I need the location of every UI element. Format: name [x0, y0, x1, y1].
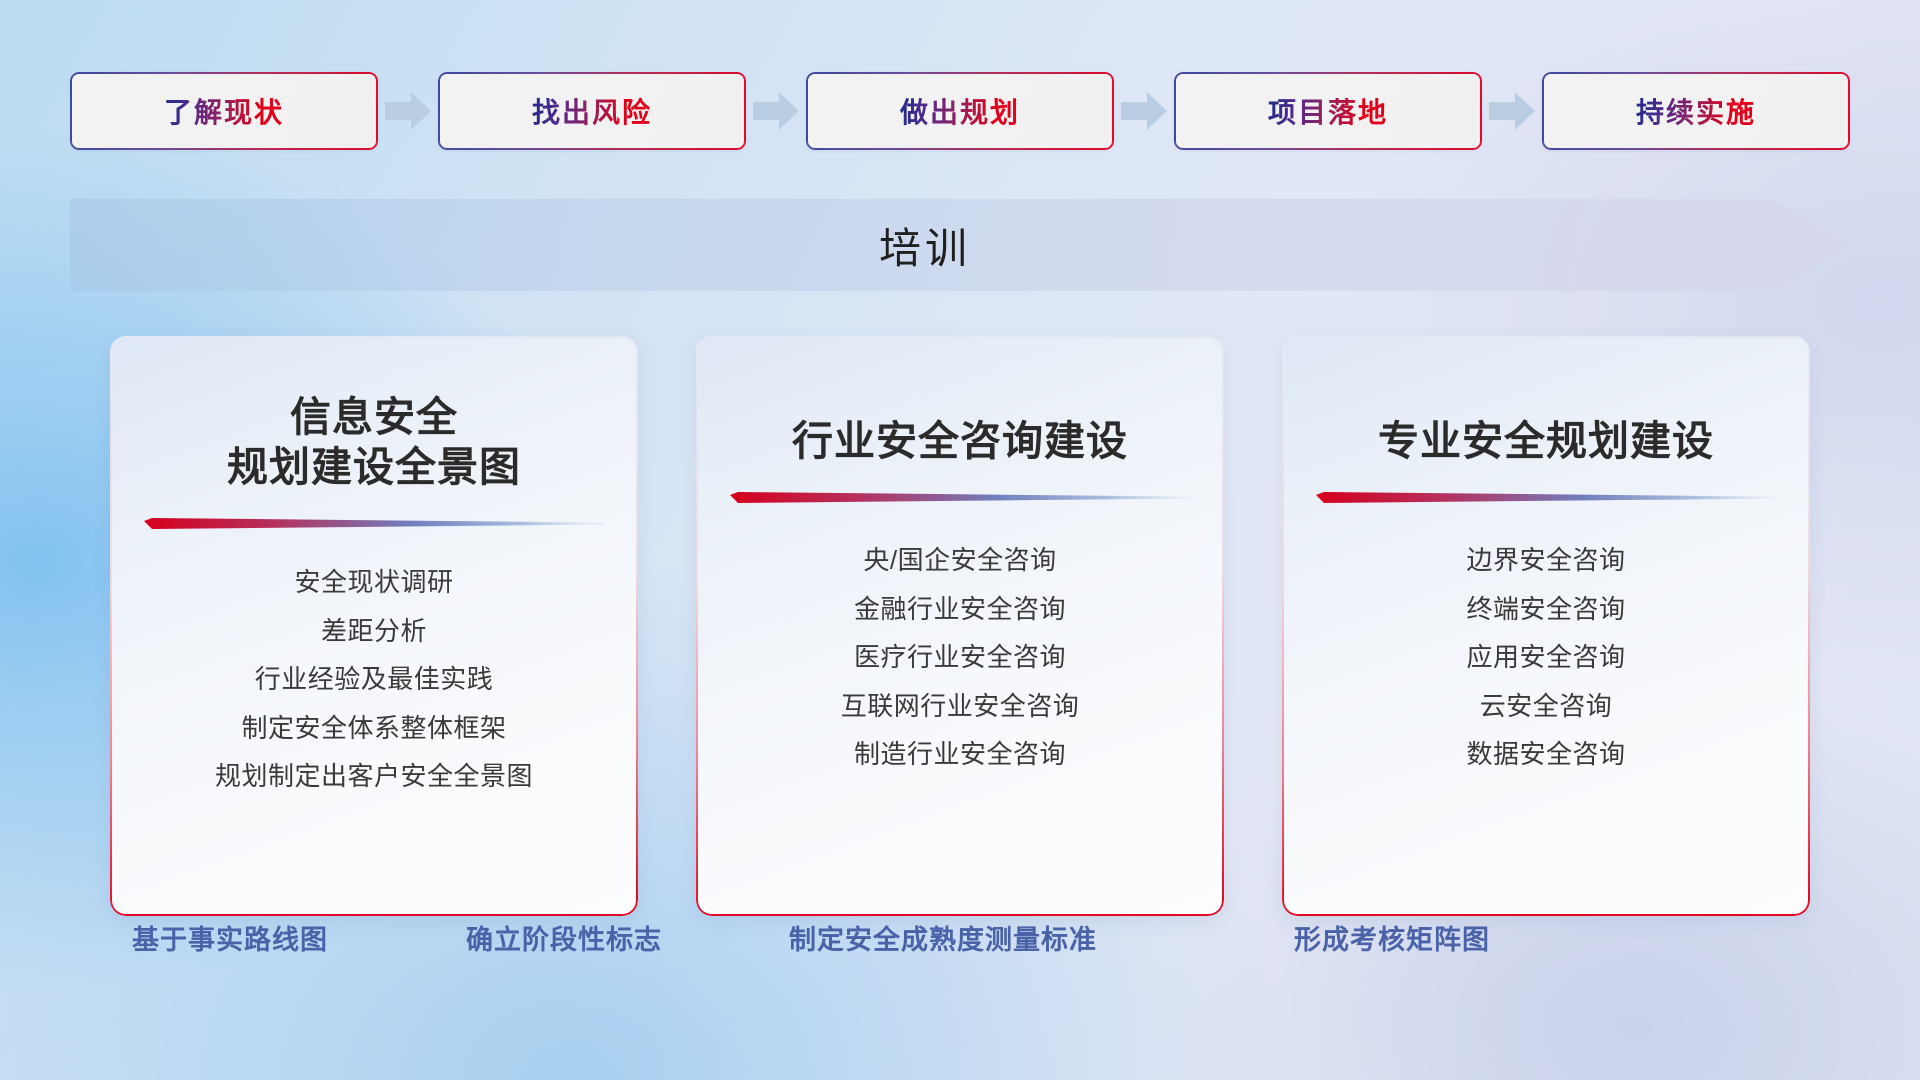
list-item: 差距分析 [144, 607, 604, 656]
list-item: 云安全咨询 [1316, 682, 1776, 731]
list-item: 安全现状调研 [144, 558, 604, 607]
card-title: 专业安全规划建设 [1378, 416, 1714, 466]
card-title: 信息安全 规划建设全景图 [227, 392, 521, 492]
card-information-security-blueprint[interactable]: 信息安全 规划建设全景图 安全现状调研 差距分析 行业经验及最佳实践 [110, 336, 638, 916]
step-item-3[interactable]: 做出规划 [806, 72, 1114, 150]
step-label: 项目落地 [1268, 91, 1388, 131]
list-item: 行业经验及最佳实践 [144, 655, 604, 704]
footer-label: 制定安全成熟度测量标准 [789, 918, 1097, 957]
card-divider [144, 518, 604, 532]
card-list: 边界安全咨询 终端安全咨询 应用安全咨询 云安全咨询 数据安全咨询 [1316, 536, 1776, 779]
step-label: 找出风险 [532, 91, 652, 131]
step-label: 做出规划 [900, 91, 1020, 131]
card-professional-security-planning[interactable]: 专业安全规划建设 边界安全咨询 终端安全咨询 应用安全咨询 云安全 [1282, 336, 1810, 916]
card-divider [730, 492, 1190, 506]
list-item: 互联网行业安全咨询 [730, 682, 1190, 731]
step-label: 持续实施 [1636, 91, 1756, 131]
step-item-1[interactable]: 了解现状 [70, 72, 378, 150]
list-item: 医疗行业安全咨询 [730, 633, 1190, 682]
list-item: 央/国企安全咨询 [730, 536, 1190, 585]
step-label: 了解现状 [164, 91, 284, 131]
footer-label: 形成考核矩阵图 [1294, 918, 1490, 957]
footer-labels-row: 基于事实路线图 确立阶段性标志 制定安全成熟度测量标准 形成考核矩阵图 [0, 918, 1920, 978]
card-list: 央/国企安全咨询 金融行业安全咨询 医疗行业安全咨询 互联网行业安全咨询 制造行… [730, 536, 1190, 779]
step-arrow-1 [378, 72, 438, 150]
list-item: 终端安全咨询 [1316, 585, 1776, 634]
card-list: 安全现状调研 差距分析 行业经验及最佳实践 制定安全体系整体框架 规划制定出客户… [144, 558, 604, 801]
list-item: 应用安全咨询 [1316, 633, 1776, 682]
step-item-2[interactable]: 找出风险 [438, 72, 746, 150]
card-industry-security-consulting[interactable]: 行业安全咨询建设 央/国企安全咨询 金融行业安全咨询 医疗行业安全咨询 [696, 336, 1224, 916]
list-item: 制造行业安全咨询 [730, 730, 1190, 779]
step-arrow-2 [746, 72, 806, 150]
process-steps-row: 了解现状 找出风险 做出规划 项目落地 持续实施 [70, 72, 1850, 150]
banner-title: 培训 [70, 199, 1850, 291]
list-item: 金融行业安全咨询 [730, 585, 1190, 634]
footer-label: 确立阶段性标志 [466, 918, 662, 957]
list-item: 数据安全咨询 [1316, 730, 1776, 779]
card-divider [1316, 492, 1776, 506]
list-item: 边界安全咨询 [1316, 536, 1776, 585]
card-title: 行业安全咨询建设 [792, 416, 1128, 466]
cards-row: 信息安全 规划建设全景图 安全现状调研 差距分析 行业经验及最佳实践 [110, 336, 1810, 916]
step-arrow-3 [1114, 72, 1174, 150]
list-item: 制定安全体系整体框架 [144, 704, 604, 753]
list-item: 规划制定出客户安全全景图 [144, 752, 604, 801]
footer-label: 基于事实路线图 [132, 918, 328, 957]
step-arrow-4 [1482, 72, 1542, 150]
step-item-4[interactable]: 项目落地 [1174, 72, 1482, 150]
training-banner: 培训 [70, 199, 1850, 291]
step-item-5[interactable]: 持续实施 [1542, 72, 1850, 150]
